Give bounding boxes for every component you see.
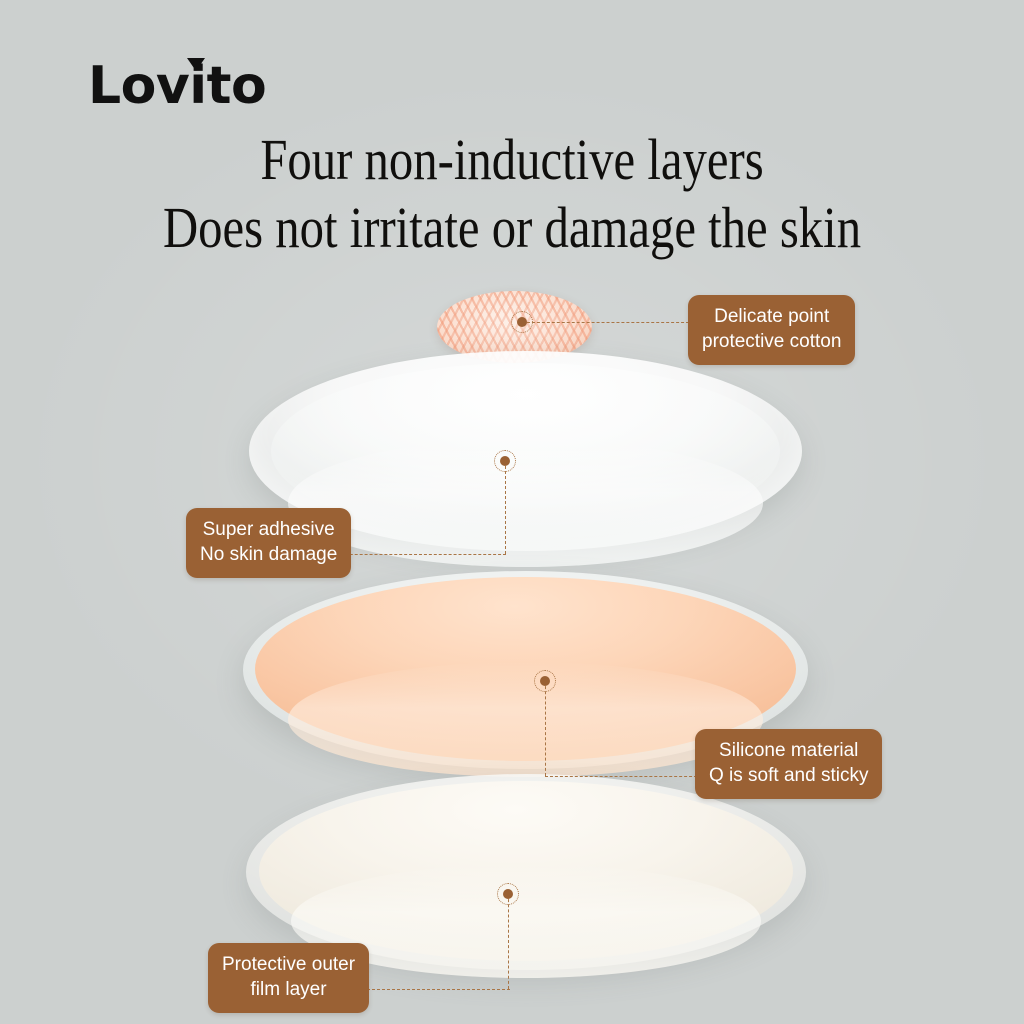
marker-core (540, 676, 550, 686)
marker-dot-film (497, 883, 519, 905)
connector-film-horizontal (352, 989, 510, 990)
marker-dot-silicone (534, 670, 556, 692)
callout-cotton-line-1: Delicate point (702, 304, 841, 329)
callout-film[interactable]: Protective outer film layer (208, 943, 369, 1013)
connector-film-vertical (508, 894, 509, 989)
marker-core (500, 456, 510, 466)
headline: Four non-inductive layers Does not irrit… (82, 126, 942, 263)
marker-core (517, 317, 527, 327)
headline-line-2: Does not irritate or damage the skin (82, 194, 942, 262)
marker-dot-cotton (511, 311, 533, 333)
connector-cotton (522, 322, 694, 323)
marker-core (503, 889, 513, 899)
callout-cotton[interactable]: Delicate point protective cotton (688, 295, 855, 365)
layer-outer-film-disc (246, 774, 806, 970)
callout-adhesive[interactable]: Super adhesive No skin damage (186, 508, 351, 578)
brand-name: Lovito (88, 56, 266, 116)
callout-silicone[interactable]: Silicone material Q is soft and sticky (695, 729, 882, 799)
adhesive-bowl-highlight (288, 439, 764, 567)
headline-line-1: Four non-inductive layers (260, 127, 763, 192)
product-infographic: Lovito Four non-inductive layers Does no… (0, 0, 1024, 1024)
callout-film-line-2: film layer (222, 977, 355, 1002)
brand-logo: Lovito (88, 60, 266, 112)
callout-film-line-1: Protective outer (222, 952, 355, 977)
callout-adhesive-line-2: No skin damage (200, 542, 337, 567)
connector-silicone-horizontal (545, 776, 702, 777)
callout-silicone-line-1: Silicone material (709, 738, 868, 763)
gem-diamond-icon (187, 58, 205, 71)
silicone-bowl-highlight (288, 662, 763, 777)
connector-silicone-vertical (545, 681, 546, 776)
connector-adhesive-horizontal (330, 554, 506, 555)
callout-silicone-line-2: Q is soft and sticky (709, 763, 868, 788)
callout-cotton-line-2: protective cotton (702, 329, 841, 354)
connector-adhesive-vertical (505, 461, 506, 554)
marker-dot-adhesive (494, 450, 516, 472)
callout-adhesive-line-1: Super adhesive (200, 517, 337, 542)
